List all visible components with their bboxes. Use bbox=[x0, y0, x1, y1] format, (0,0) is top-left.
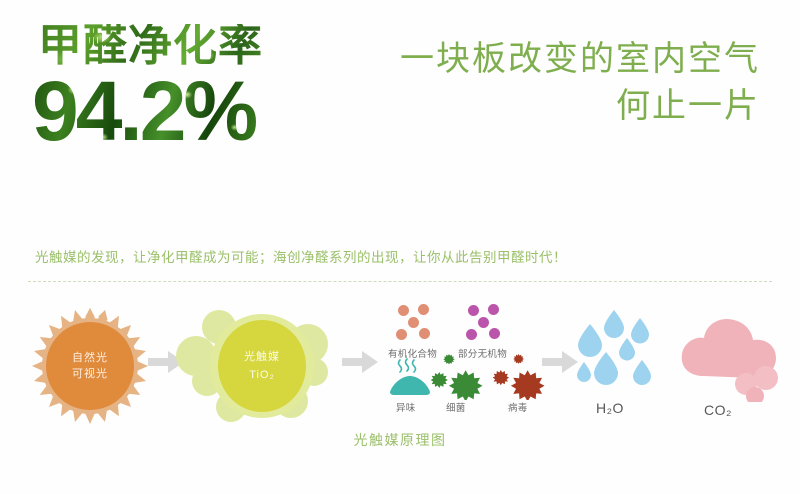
catalyst-label-line2: TiO₂ bbox=[249, 366, 275, 384]
water-label: H₂O bbox=[596, 400, 624, 416]
purification-rate-value: 94.2% bbox=[32, 70, 330, 152]
bacteria-icon bbox=[430, 354, 486, 400]
hero-right-block: 一块板改变的室内空气 何止一片 bbox=[360, 36, 760, 130]
natural-light-sun: 自然光 可视光 bbox=[32, 308, 148, 424]
photocatalyst-diagram: 自然光 可视光 光触媒 TiO₂ bbox=[0, 296, 800, 446]
sun-label-line1: 自然光 bbox=[72, 350, 108, 367]
diagram-caption: 光触媒原理图 bbox=[0, 430, 800, 450]
virus-icon bbox=[492, 354, 548, 400]
hero-tagline-line1: 一块板改变的室内空气 bbox=[360, 36, 760, 83]
arrow-right-icon-2 bbox=[342, 350, 378, 374]
organic-compound-dots bbox=[396, 304, 448, 342]
hero-tagline-line2: 何止一片 bbox=[360, 83, 760, 130]
sun-label-line2: 可视光 bbox=[72, 366, 108, 383]
hero-left-block: 甲醛净化率 94.2% bbox=[30, 24, 330, 152]
poster-page: 甲醛净化率 94.2% 一块板改变的室内空气 何止一片 光触媒的发现，让净化甲醛… bbox=[0, 0, 800, 494]
water-drops-icon bbox=[572, 304, 668, 400]
section-divider bbox=[28, 281, 772, 282]
inorganic-matter-dots bbox=[466, 304, 518, 342]
water-output: H₂O bbox=[572, 304, 668, 404]
page-title: 甲醛净化率 bbox=[38, 24, 330, 68]
odor-icon bbox=[388, 358, 432, 398]
pollutants-group: 有机化合物 部分无机物 异味 bbox=[388, 296, 538, 420]
catalyst-label-line1: 光触媒 bbox=[244, 348, 280, 366]
co2-output: CO₂ bbox=[676, 306, 782, 406]
sun-label: 自然光 可视光 bbox=[46, 322, 134, 410]
photocatalyst-cluster: 光触媒 TiO₂ bbox=[176, 304, 336, 428]
catalyst-label: 光触媒 TiO₂ bbox=[218, 320, 306, 412]
bacteria-label: 细菌 bbox=[446, 400, 466, 414]
subtitle-text: 光触媒的发现，让净化甲醛成为可能；海创净醛系列的出现，让你从此告别甲醛时代！ bbox=[35, 246, 567, 266]
co2-cloud-icon bbox=[676, 306, 782, 402]
virus-label: 病毒 bbox=[508, 400, 528, 414]
odor-label: 异味 bbox=[396, 400, 416, 414]
co2-label: CO₂ bbox=[704, 402, 732, 418]
